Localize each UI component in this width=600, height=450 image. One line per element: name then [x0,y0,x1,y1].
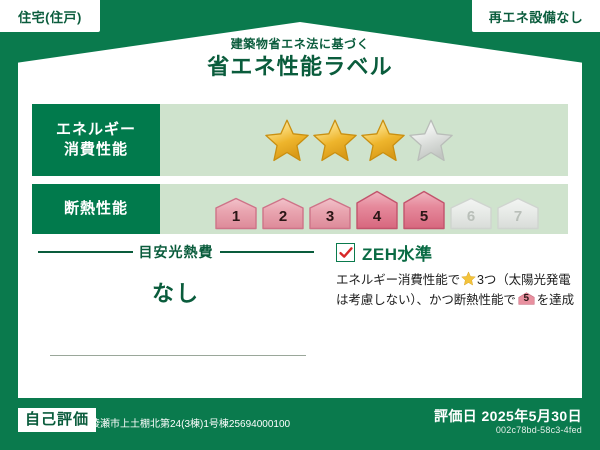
house-badge-icon [496,197,540,230]
insulation-level-badge: 1 [214,197,258,230]
energy-label-root: 住宅(住戸) 再エネ設備なし 建築物省エネ法に基づく 省エネ性能ラベル エネルギ… [0,0,600,450]
star-icon-filled [264,117,310,163]
zeh-desc-stars: 3つ（太陽光発電 [477,273,571,287]
label-title-block: 建築物省エネ法に基づく 省エネ性能ラベル [0,38,600,79]
house-badge-icon [261,197,305,230]
zeh-desc-part1: エネルギー消費性能で [336,273,460,287]
insulation-level-badge: 3 [308,197,352,230]
zeh-title: ZEH水準 [362,240,433,265]
star-icon-empty [408,117,454,163]
zeh-standard-block: ZEH水準 エネルギー消費性能で3つ（太陽光発電 は考慮しない）、かつ断熱性能で… [336,240,586,311]
utility-cost-heading: 目安光熱費 [38,242,314,262]
property-address: 綾瀬市上土棚北第24(3棟)1号棟25694000100 [90,415,290,430]
self-evaluation-badge: 自己評価 [18,408,96,432]
house-badge-icon [355,190,399,230]
tag-building-type: 住宅(住戸) [0,0,100,32]
insulation-level-badge: 7 [496,197,540,230]
energy-label-line1: エネルギー [56,120,136,140]
footer-bar: 自己評価 綾瀬市上土棚北第24(3棟)1号棟25694000100 評価日 20… [0,398,600,450]
zeh-checkbox [336,243,355,262]
zeh-heading: ZEH水準 [336,240,586,265]
evaluation-hash: 002c78bd-58c3-4fed [496,425,582,435]
insulation-level-badge: 2 [261,197,305,230]
insulation-performance-body: 1234567 [160,184,568,234]
zeh-description: エネルギー消費性能で3つ（太陽光発電 は考慮しない）、かつ断熱性能で5を達成 [336,271,586,311]
star-icon-filled [312,117,358,163]
heading-rule-right [220,251,315,253]
zeh-desc-part3: を達成 [537,293,574,307]
zeh-desc-part2: は考慮しない）、かつ断熱性能で [336,293,516,307]
house-badge-icon [214,197,258,230]
insulation-level-badge: 6 [449,197,493,230]
star-icon-filled [360,117,406,163]
insulation-level-scale: 1234567 [214,184,540,234]
check-icon [339,246,353,260]
star-rating [264,117,454,163]
main-card: エネルギー 消費性能 断熱性能 1234567 目安光熱費 なし [18,90,582,398]
house-badge-icon [308,197,352,230]
tag-renewable-equipment: 再エネ設備なし [472,0,600,32]
insulation-performance-row: 断熱性能 1234567 [32,184,568,234]
insulation-level-badge: 4 [355,190,399,230]
energy-performance-body [160,104,568,176]
energy-label-line2: 消費性能 [64,140,128,160]
insulation-level-badge: 5 [402,190,446,230]
utility-cost-underline [50,355,306,356]
zeh-desc-level-badge: 5 [518,290,535,307]
heading-rule-left [38,251,133,253]
house-badge-icon [402,190,446,230]
page-title: 省エネ性能ラベル [0,54,600,79]
house-badge-icon [449,197,493,230]
utility-cost-title: 目安光熱費 [139,242,214,262]
energy-performance-row: エネルギー 消費性能 [32,104,568,176]
evaluation-date: 評価日 2025年5月30日 [434,406,582,426]
energy-performance-label: エネルギー 消費性能 [32,104,160,176]
insulation-performance-label: 断熱性能 [32,184,160,234]
star-icon [461,271,476,286]
title-subtitle: 建築物省エネ法に基づく [0,38,600,51]
zeh-desc-level-number: 5 [518,291,535,307]
utility-cost-value: なし [38,276,314,308]
insulation-label-text: 断熱性能 [64,199,128,219]
